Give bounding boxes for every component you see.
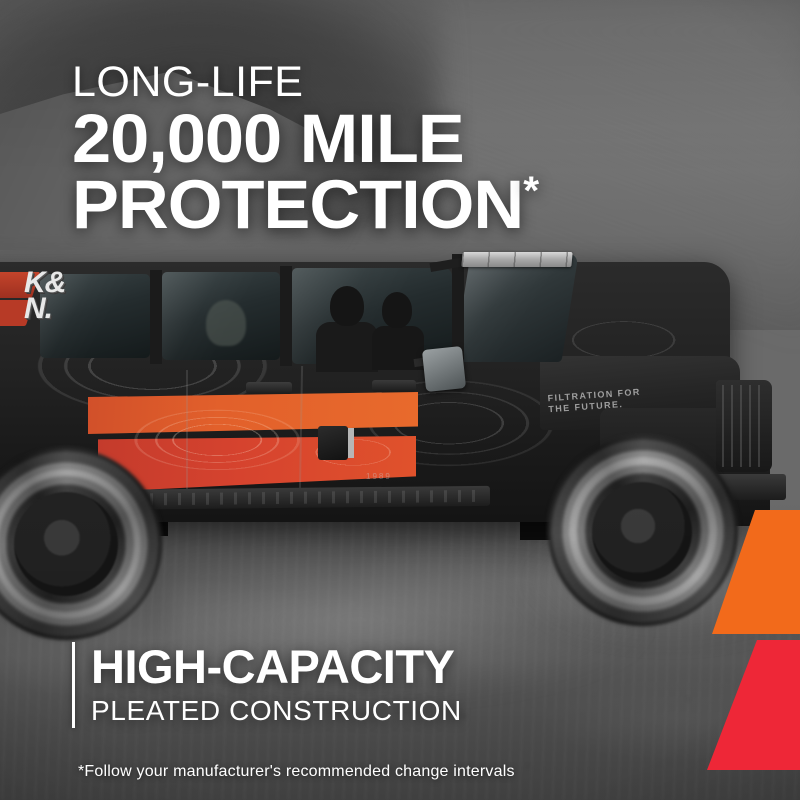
glass-reflection — [453, 254, 578, 362]
rear-wheel-hub — [14, 492, 118, 596]
side-mirror — [422, 346, 466, 392]
subhead-primary: HIGH-CAPACITY — [91, 642, 462, 692]
windshield — [453, 254, 578, 362]
advertisement-canvas: 1989 FILTRATION FOR THE FUTURE. K& N. — [0, 0, 800, 800]
c-pillar — [280, 266, 292, 366]
headline-block: LONG-LIFE 20,000 MILE PROTECTION* — [72, 58, 529, 238]
footnote-disclaimer: *Follow your manufacturer's recommended … — [78, 762, 515, 782]
passenger-head — [382, 292, 412, 328]
kn-logo-wordmark: K& N. — [24, 268, 65, 324]
door-seam-rear — [186, 370, 188, 492]
door-handle-front — [372, 380, 416, 392]
headline-eyebrow: LONG-LIFE — [72, 58, 529, 106]
door-badge: 1989 — [366, 472, 392, 481]
b-pillar — [150, 270, 162, 364]
headline-asterisk: * — [523, 169, 538, 213]
side-vent — [318, 426, 348, 460]
roof-light-bar — [461, 252, 572, 267]
driver-head — [330, 286, 364, 326]
front-grille — [716, 380, 772, 472]
front-wheel-hub — [592, 482, 692, 582]
subhead-secondary: PLEATED CONSTRUCTION — [91, 694, 462, 728]
kn-logo: K& N. — [0, 268, 88, 340]
light-bar-segments — [461, 252, 572, 267]
offroad-vehicle: 1989 FILTRATION FOR THE FUTURE. K& N. — [0, 230, 800, 630]
passenger-rear — [206, 300, 246, 346]
driver-torso — [316, 322, 378, 372]
grille-slats — [722, 385, 766, 467]
headline-line-2-text: PROTECTION — [72, 166, 523, 243]
subhead-divider-bar — [72, 642, 75, 728]
headline-line-2: PROTECTION* — [72, 172, 538, 238]
door-handle-rear — [246, 382, 292, 394]
subhead-text-group: HIGH-CAPACITY PLEATED CONSTRUCTION — [91, 642, 462, 728]
headline-line-1: 20,000 MILE — [72, 106, 538, 172]
subhead-block: HIGH-CAPACITY PLEATED CONSTRUCTION — [72, 642, 462, 728]
vent-chrome-trim — [348, 428, 354, 458]
